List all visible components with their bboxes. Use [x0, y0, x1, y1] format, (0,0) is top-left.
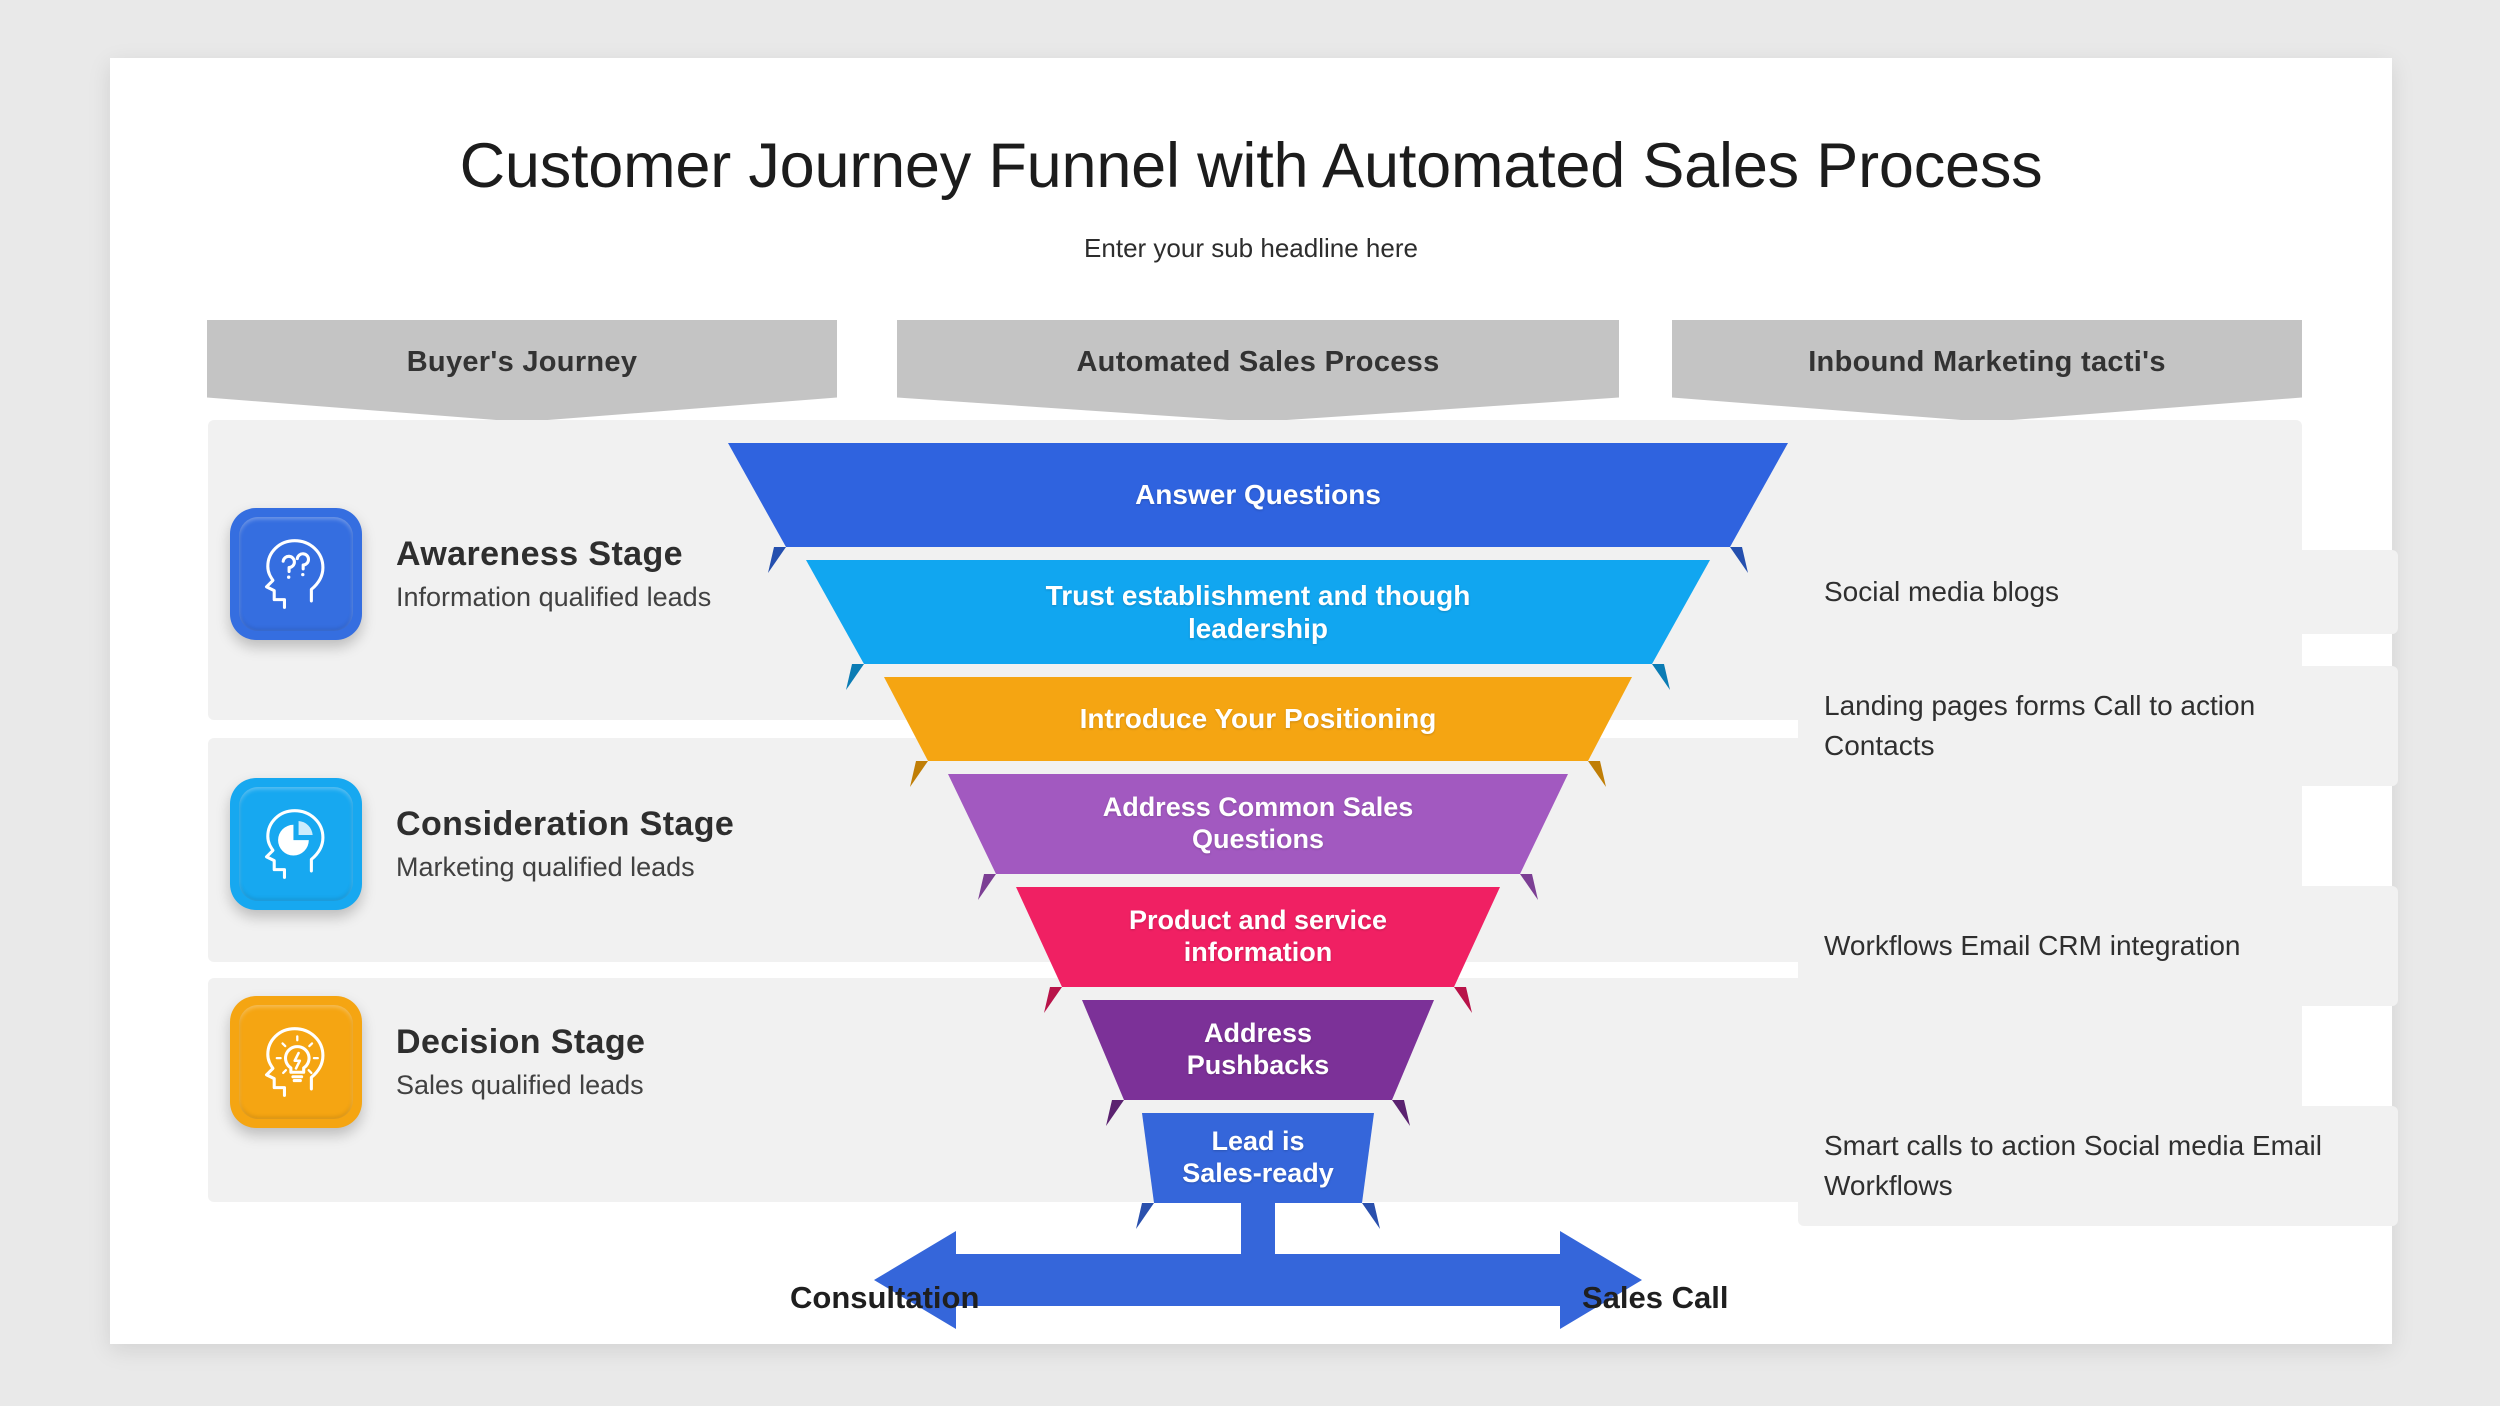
- stage-item-decision[interactable]: Decision Stage Sales qualified leads: [230, 996, 645, 1128]
- tactic-card[interactable]: Workflows Email CRM integration: [1798, 886, 2398, 1006]
- column-header-label: Automated Sales Process: [1076, 346, 1439, 379]
- column-header-label: Inbound Marketing tacti's: [1808, 346, 2166, 379]
- page-subtitle: Enter your sub headline here: [110, 233, 2392, 264]
- page-title: Customer Journey Funnel with Automated S…: [110, 130, 2392, 202]
- tactic-label: Landing pages forms Call to action Conta…: [1824, 686, 2372, 766]
- funnel-band-label: Address Common Sales Questions: [948, 774, 1568, 874]
- head-question-marks-icon: [230, 508, 362, 640]
- column-header-inbound-marketing-tactics: Inbound Marketing tacti's: [1672, 320, 2302, 422]
- stage-item-awareness[interactable]: Awareness Stage Information qualified le…: [230, 508, 711, 640]
- funnel-band-label: Introduce Your Positioning: [884, 677, 1632, 761]
- funnel-band-label: Answer Questions: [728, 443, 1788, 547]
- stage-title: Awareness Stage: [396, 535, 711, 574]
- bottom-double-arrow: [874, 1203, 1642, 1329]
- column-header-label: Buyer's Journey: [407, 346, 638, 379]
- tactic-label: Workflows Email CRM integration: [1824, 926, 2241, 966]
- head-pie-chart-icon: [230, 778, 362, 910]
- tactic-label: Smart calls to action Social media Email…: [1824, 1126, 2372, 1206]
- stage-subtitle: Marketing qualified leads: [396, 852, 734, 883]
- column-header-buyers-journey: Buyer's Journey: [207, 320, 837, 422]
- double-arrow-shape: [874, 1231, 1642, 1329]
- funnel-band-label: Lead is Sales-ready: [1142, 1113, 1374, 1203]
- arrow-label-consultation: Consultation: [790, 1280, 979, 1316]
- head-lightbulb-icon: [230, 996, 362, 1128]
- funnel-band-label: Product and service information: [1016, 887, 1500, 987]
- stage-title: Decision Stage: [396, 1023, 645, 1062]
- tactic-card[interactable]: Landing pages forms Call to action Conta…: [1798, 666, 2398, 786]
- tactic-card[interactable]: Social media blogs: [1798, 550, 2398, 634]
- funnel-band-label: Address Pushbacks: [1082, 1000, 1434, 1100]
- slide-canvas: Customer Journey Funnel with Automated S…: [0, 0, 2500, 1406]
- stage-item-consideration[interactable]: Consideration Stage Marketing qualified …: [230, 778, 734, 910]
- tactic-label: Social media blogs: [1824, 572, 2059, 612]
- arrow-label-sales-call: Sales Call: [1582, 1280, 1728, 1316]
- stage-title: Consideration Stage: [396, 805, 734, 844]
- tactic-card[interactable]: Smart calls to action Social media Email…: [1798, 1106, 2398, 1226]
- stage-subtitle: Sales qualified leads: [396, 1070, 645, 1101]
- funnel-band-label: Trust establishment and though leadershi…: [806, 560, 1710, 664]
- column-header-automated-sales-process: Automated Sales Process: [897, 320, 1619, 422]
- stage-subtitle: Information qualified leads: [396, 582, 711, 613]
- slide-surface: Customer Journey Funnel with Automated S…: [110, 58, 2392, 1344]
